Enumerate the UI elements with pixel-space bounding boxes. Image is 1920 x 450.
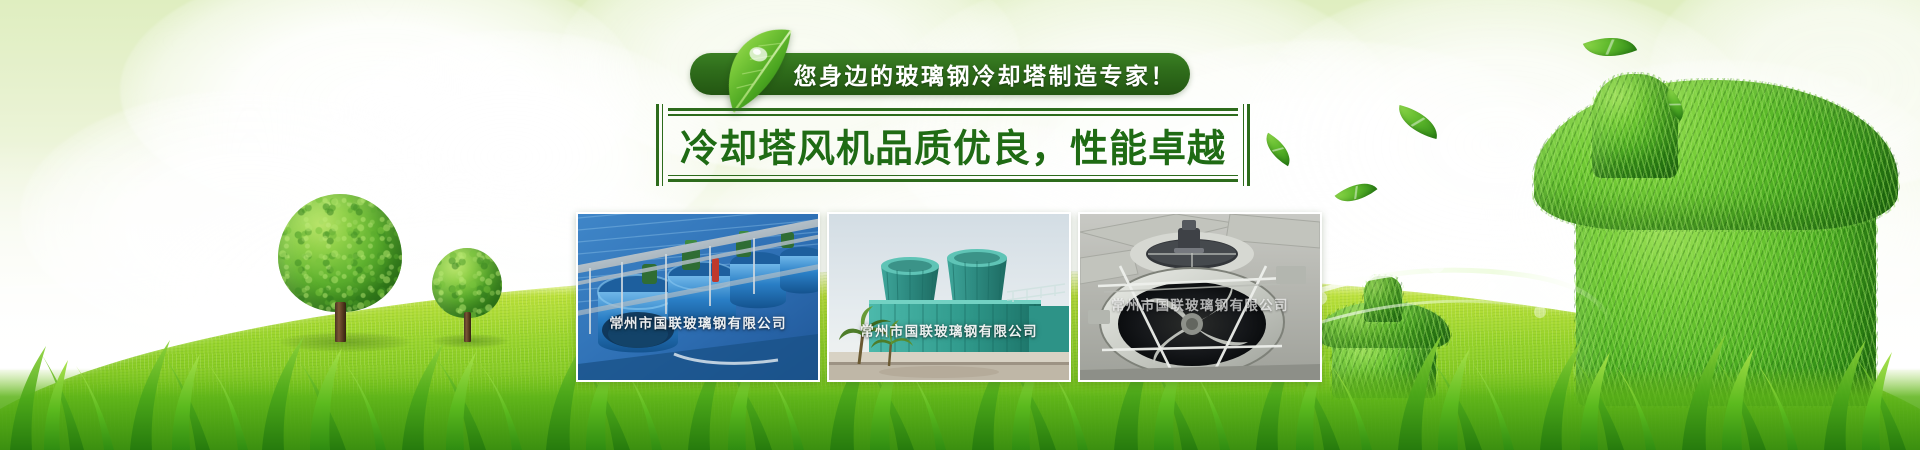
floating-leaf-icon — [1583, 26, 1637, 68]
frame-line-top — [668, 108, 1238, 111]
headline-text: 冷却塔风机品质优良，性能卓越 — [656, 118, 1250, 173]
product-photo-strip: 常州市国联玻璃钢有限公司 — [576, 212, 1322, 382]
tree-big — [278, 194, 402, 340]
tree-crown — [278, 194, 402, 312]
product-thumbnail[interactable]: 常州市国联玻璃钢有限公司 — [827, 212, 1071, 382]
cooling-tower-fan-top-view-image — [1080, 214, 1320, 380]
product-thumbnail[interactable]: 常州市国联玻璃钢有限公司 — [1078, 212, 1322, 382]
frame-line-bottom-inner — [668, 175, 1238, 176]
cloud-shape — [1650, 0, 1920, 190]
cloud-shape — [1480, 60, 1920, 340]
floating-leaf-icon — [1335, 173, 1378, 213]
headline-frame: 冷却塔风机品质优良，性能卓越 — [656, 108, 1250, 182]
tree-crown — [432, 248, 502, 318]
frame-line-bottom — [668, 179, 1238, 182]
tree-small — [432, 248, 502, 344]
floating-leaf-icon — [1658, 88, 1691, 121]
floating-leaf-icon — [1394, 105, 1442, 139]
cooling-tower-fans-row-image — [578, 214, 818, 380]
tagline-text: 您身边的玻璃钢冷却塔制造专家！ — [794, 57, 1177, 91]
frame-line-top-inner — [668, 114, 1238, 116]
product-thumbnail[interactable]: 常州市国联玻璃钢有限公司 — [576, 212, 820, 382]
topiary-chimney — [1592, 74, 1678, 178]
promo-banner: 常州市国联玻璃钢有限公司 — [0, 0, 1920, 450]
tagline-badge: 您身边的玻璃钢冷却塔制造专家！ — [690, 53, 1190, 95]
floating-leaf-icon — [1259, 133, 1298, 166]
topiary-roof — [1534, 80, 1898, 230]
tree-trunk — [464, 312, 471, 342]
tree-trunk — [335, 302, 346, 342]
cooling-tower-plant-exterior-image — [829, 214, 1069, 380]
cloud-shape — [120, 0, 640, 220]
